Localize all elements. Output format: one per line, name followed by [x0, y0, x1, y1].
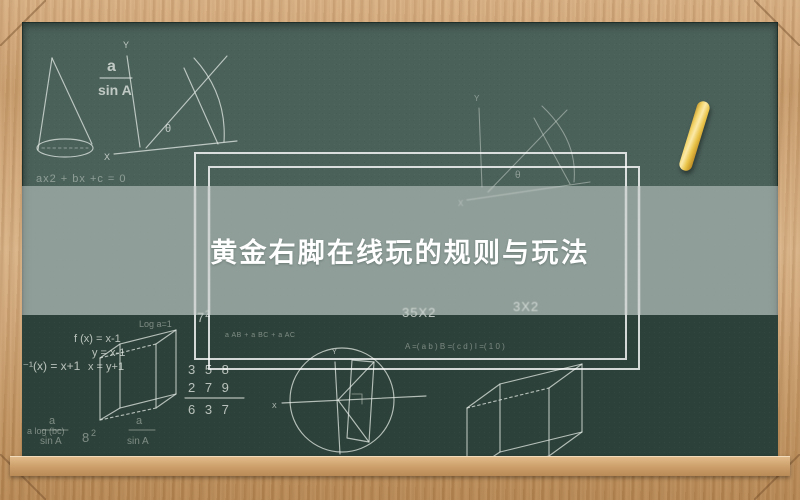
- svg-text:A =( a b ) B =( c d ) I =( 1: A =( a b ) B =( c d ) I =( 1 0 ): [405, 342, 505, 351]
- circle-axes-diagram: Y X: [272, 348, 426, 454]
- svg-text:X: X: [104, 152, 110, 162]
- title-banner: 黄金右脚在线玩的规则与玩法: [22, 186, 778, 315]
- svg-text:X: X: [272, 403, 277, 410]
- svg-text:y = x-1: y = x-1: [92, 347, 125, 359]
- svg-text:Y: Y: [474, 94, 480, 103]
- cone-diagram: [37, 58, 93, 157]
- cube-diagram-left: [100, 330, 176, 420]
- angle-diagram-top-left: Y X θ: [104, 40, 237, 162]
- svg-text:a: a: [136, 415, 143, 427]
- svg-text:a: a: [49, 415, 56, 427]
- wooden-frame: a sin A Y X θ ax2 + bx +c = 0: [0, 0, 800, 500]
- subtraction-problem: 3 5 8 2 7 9 6 3 7: [185, 362, 244, 417]
- svg-text:3 5 8: 3 5 8: [188, 362, 232, 377]
- yellow-chalk-stick-icon: [678, 100, 711, 173]
- svg-text:6 3 7: 6 3 7: [188, 402, 232, 417]
- sum-note: a AB + a BC + a AC: [225, 332, 295, 339]
- inverse-function: f ⁻¹(x) = x+1: [22, 359, 81, 373]
- svg-text:Y: Y: [123, 40, 129, 50]
- svg-text:x = y+1: x = y+1: [88, 361, 124, 373]
- fraction-a-sin-a-top: a sin A: [98, 58, 132, 98]
- chalkboard-surface: a sin A Y X θ ax2 + bx +c = 0: [22, 22, 778, 456]
- log-identity: a log (bc): [27, 426, 65, 436]
- svg-text:sin A: sin A: [98, 82, 132, 98]
- svg-text:sin A: sin A: [127, 436, 149, 447]
- cube-diagram-right: [467, 364, 582, 456]
- svg-text:θ: θ: [165, 123, 171, 135]
- board-lower-shadow: [22, 315, 778, 456]
- fraction-a-sin-a-bottom-1: a sin A: [40, 415, 68, 447]
- svg-text:sin A: sin A: [40, 436, 62, 447]
- svg-text:2: 2: [91, 428, 96, 438]
- svg-text:θ: θ: [515, 170, 521, 181]
- svg-text:a: a: [107, 58, 116, 75]
- function-equations: f (x) = x-1 y = x-1 x = y+1: [74, 333, 125, 373]
- page-title: 黄金右脚在线玩的规则与玩法: [210, 231, 590, 270]
- quadratic-equation: ax2 + bx +c = 0: [36, 173, 127, 185]
- chalk-ledge: [10, 456, 790, 476]
- svg-text:2 7 9: 2 7 9: [188, 380, 232, 395]
- svg-text:Y: Y: [332, 349, 337, 356]
- board-lower-texture: [22, 315, 778, 456]
- matrix-notation: A =( a b ) B =( c d ) I =( 1 0 ): [405, 342, 505, 351]
- eight-squared: 8 2: [82, 428, 96, 445]
- svg-text:f (x) = x-1: f (x) = x-1: [74, 333, 121, 345]
- fraction-a-sin-a-bottom-2: a sin A: [127, 415, 155, 447]
- svg-text:8: 8: [82, 430, 89, 445]
- log-a-equals-one: Log a=1: [139, 319, 172, 329]
